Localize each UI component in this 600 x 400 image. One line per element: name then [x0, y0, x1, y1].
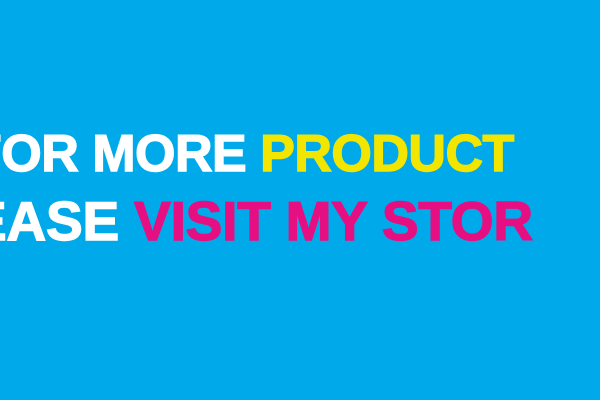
headline-line-1-space [246, 125, 260, 183]
headline-line-1: FOR MORE PRODUCT [0, 121, 600, 188]
headline-line-2-white-segment: EASE [0, 190, 119, 252]
headline-block: FOR MORE PRODUCT EASE VISIT MY STOR [0, 121, 600, 255]
promo-banner: FOR MORE PRODUCT EASE VISIT MY STOR [0, 0, 600, 400]
headline-line-1-white-segment: FOR MORE [0, 125, 246, 183]
headline-line-1-yellow-segment: PRODUCT [260, 125, 514, 183]
headline-line-2-space [119, 190, 134, 252]
headline-line-2: EASE VISIT MY STOR [0, 188, 600, 255]
headline-line-2-magenta-segment: VISIT MY STOR [134, 190, 533, 252]
